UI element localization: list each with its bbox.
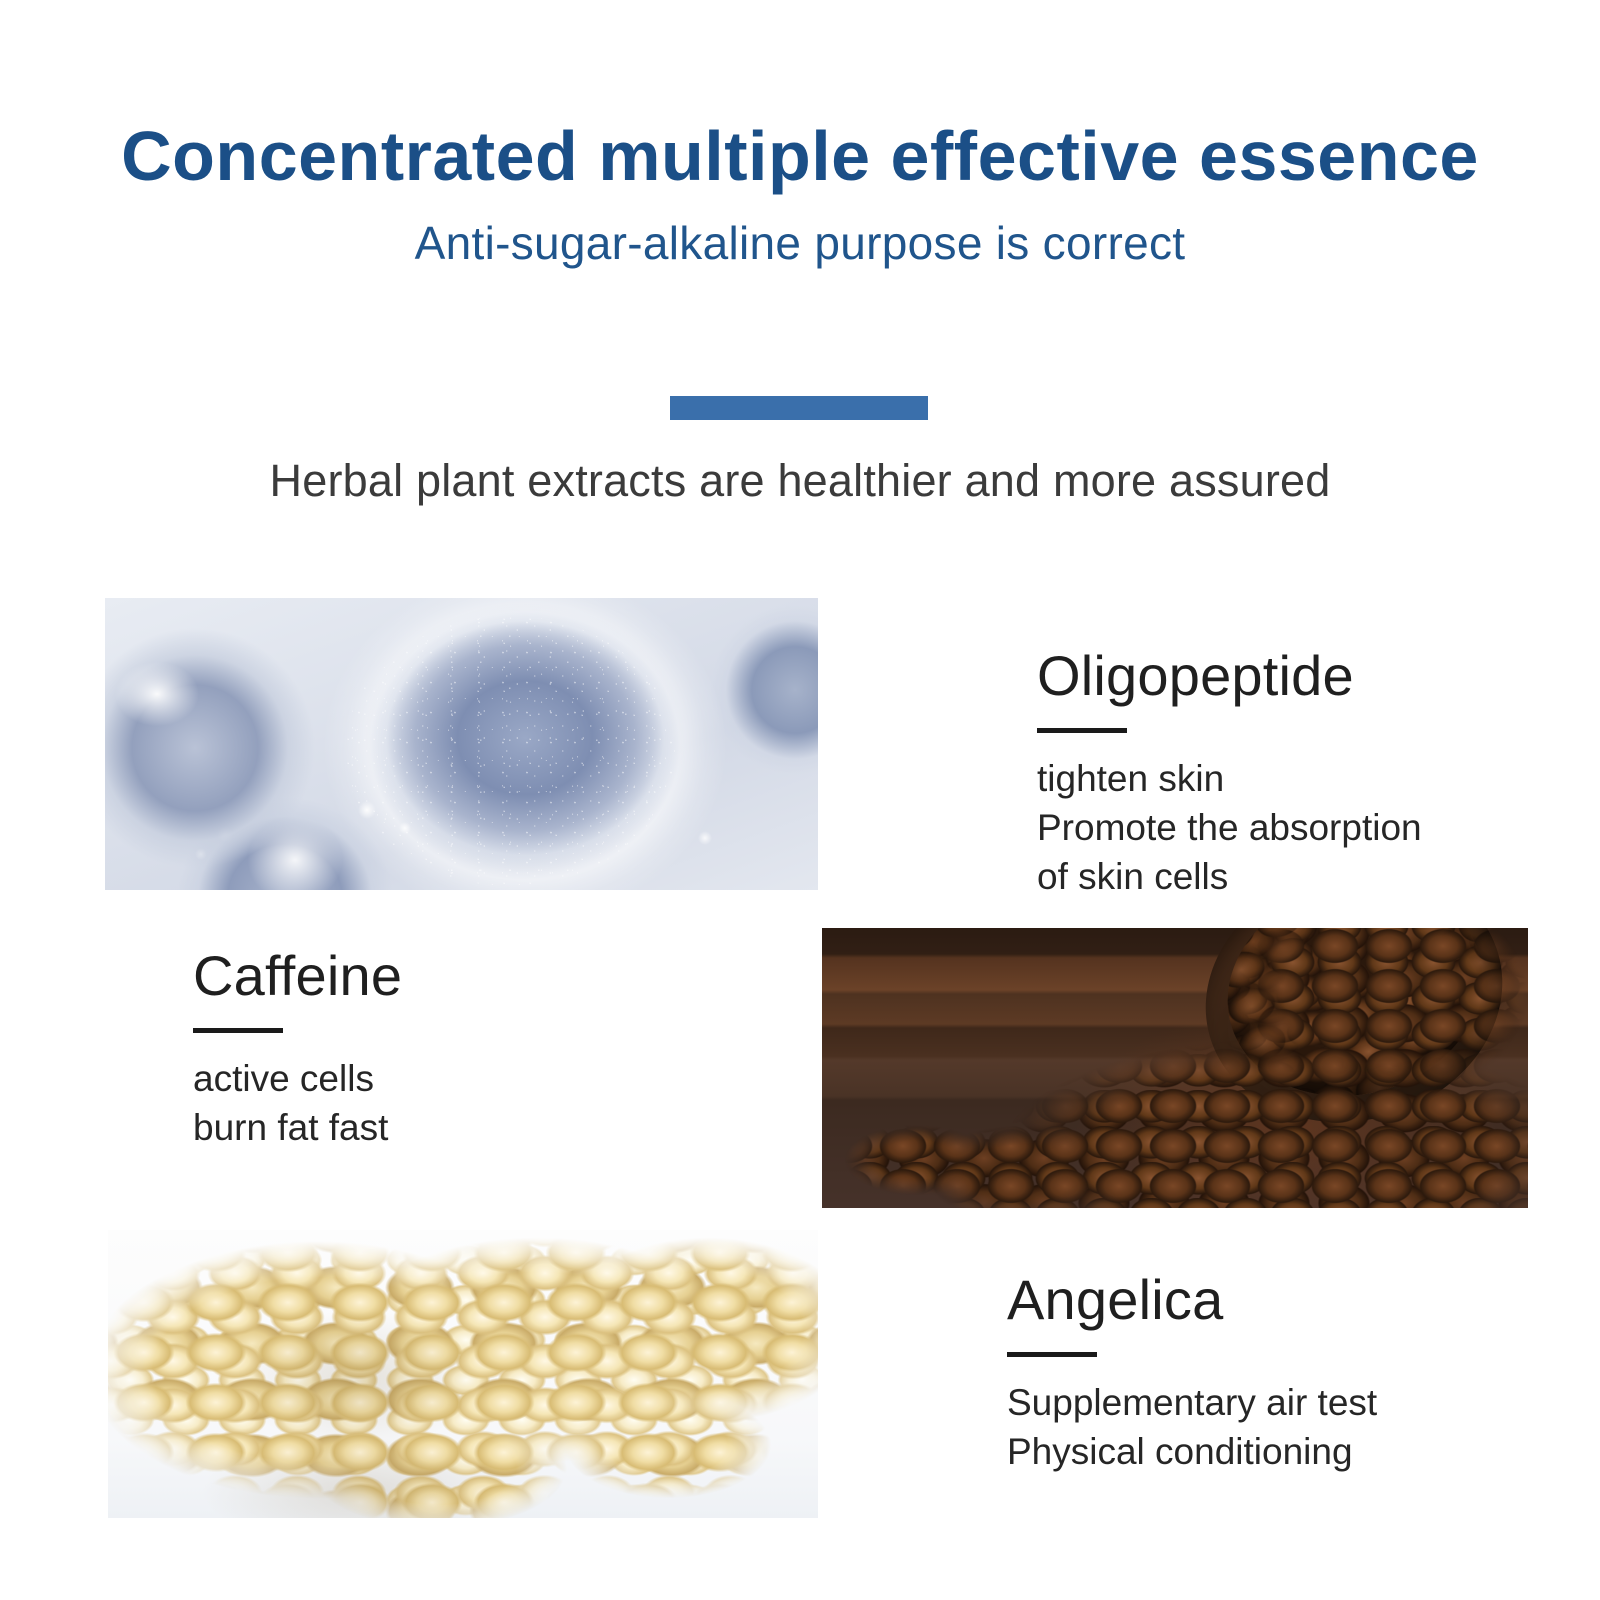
product-infographic: Concentrated multiple effective essence … xyxy=(0,0,1600,1600)
coffee-beans-texture xyxy=(822,928,1528,1208)
image-coffee-beans-photo xyxy=(822,928,1528,1208)
ingredient-desc-line-2: Promote the absorption xyxy=(1037,804,1422,853)
ingredient-title-oligopeptide: Oligopeptide xyxy=(1037,648,1422,704)
ingredient-block-oligopeptide: Oligopeptide tighten skin Promote the ab… xyxy=(1037,648,1422,901)
page-subtitle: Anti-sugar-alkaline purpose is correct xyxy=(0,216,1600,270)
image-angelica-root-photo xyxy=(108,1230,818,1518)
ingredient-desc-line-1: Supplementary air test xyxy=(1007,1379,1377,1428)
ingredient-block-caffeine: Caffeine active cells burn fat fast xyxy=(193,948,402,1153)
image-cells-photo xyxy=(105,598,818,890)
ingredient-desc-line-3: of skin cells xyxy=(1037,853,1422,902)
page-title: Concentrated multiple effective essence xyxy=(0,120,1600,194)
ingredient-rule-angelica xyxy=(1007,1352,1097,1357)
ingredient-desc-line-2: burn fat fast xyxy=(193,1104,402,1153)
ingredient-block-angelica: Angelica Supplementary air test Physical… xyxy=(1007,1272,1377,1477)
accent-divider-bar xyxy=(670,396,928,420)
ingredient-rule-caffeine xyxy=(193,1028,283,1033)
section-tagline: Herbal plant extracts are healthier and … xyxy=(0,455,1600,507)
ingredient-desc-line-1: tighten skin xyxy=(1037,755,1422,804)
ingredient-title-angelica: Angelica xyxy=(1007,1272,1377,1328)
cell-texture-overlay xyxy=(345,616,675,886)
ingredient-desc-line-1: active cells xyxy=(193,1055,402,1104)
header: Concentrated multiple effective essence … xyxy=(0,120,1600,270)
angelica-shadow-overlay xyxy=(108,1230,818,1518)
ingredient-rule-oligopeptide xyxy=(1037,728,1127,733)
ingredient-title-caffeine: Caffeine xyxy=(193,948,402,1004)
ingredient-desc-line-2: Physical conditioning xyxy=(1007,1428,1377,1477)
